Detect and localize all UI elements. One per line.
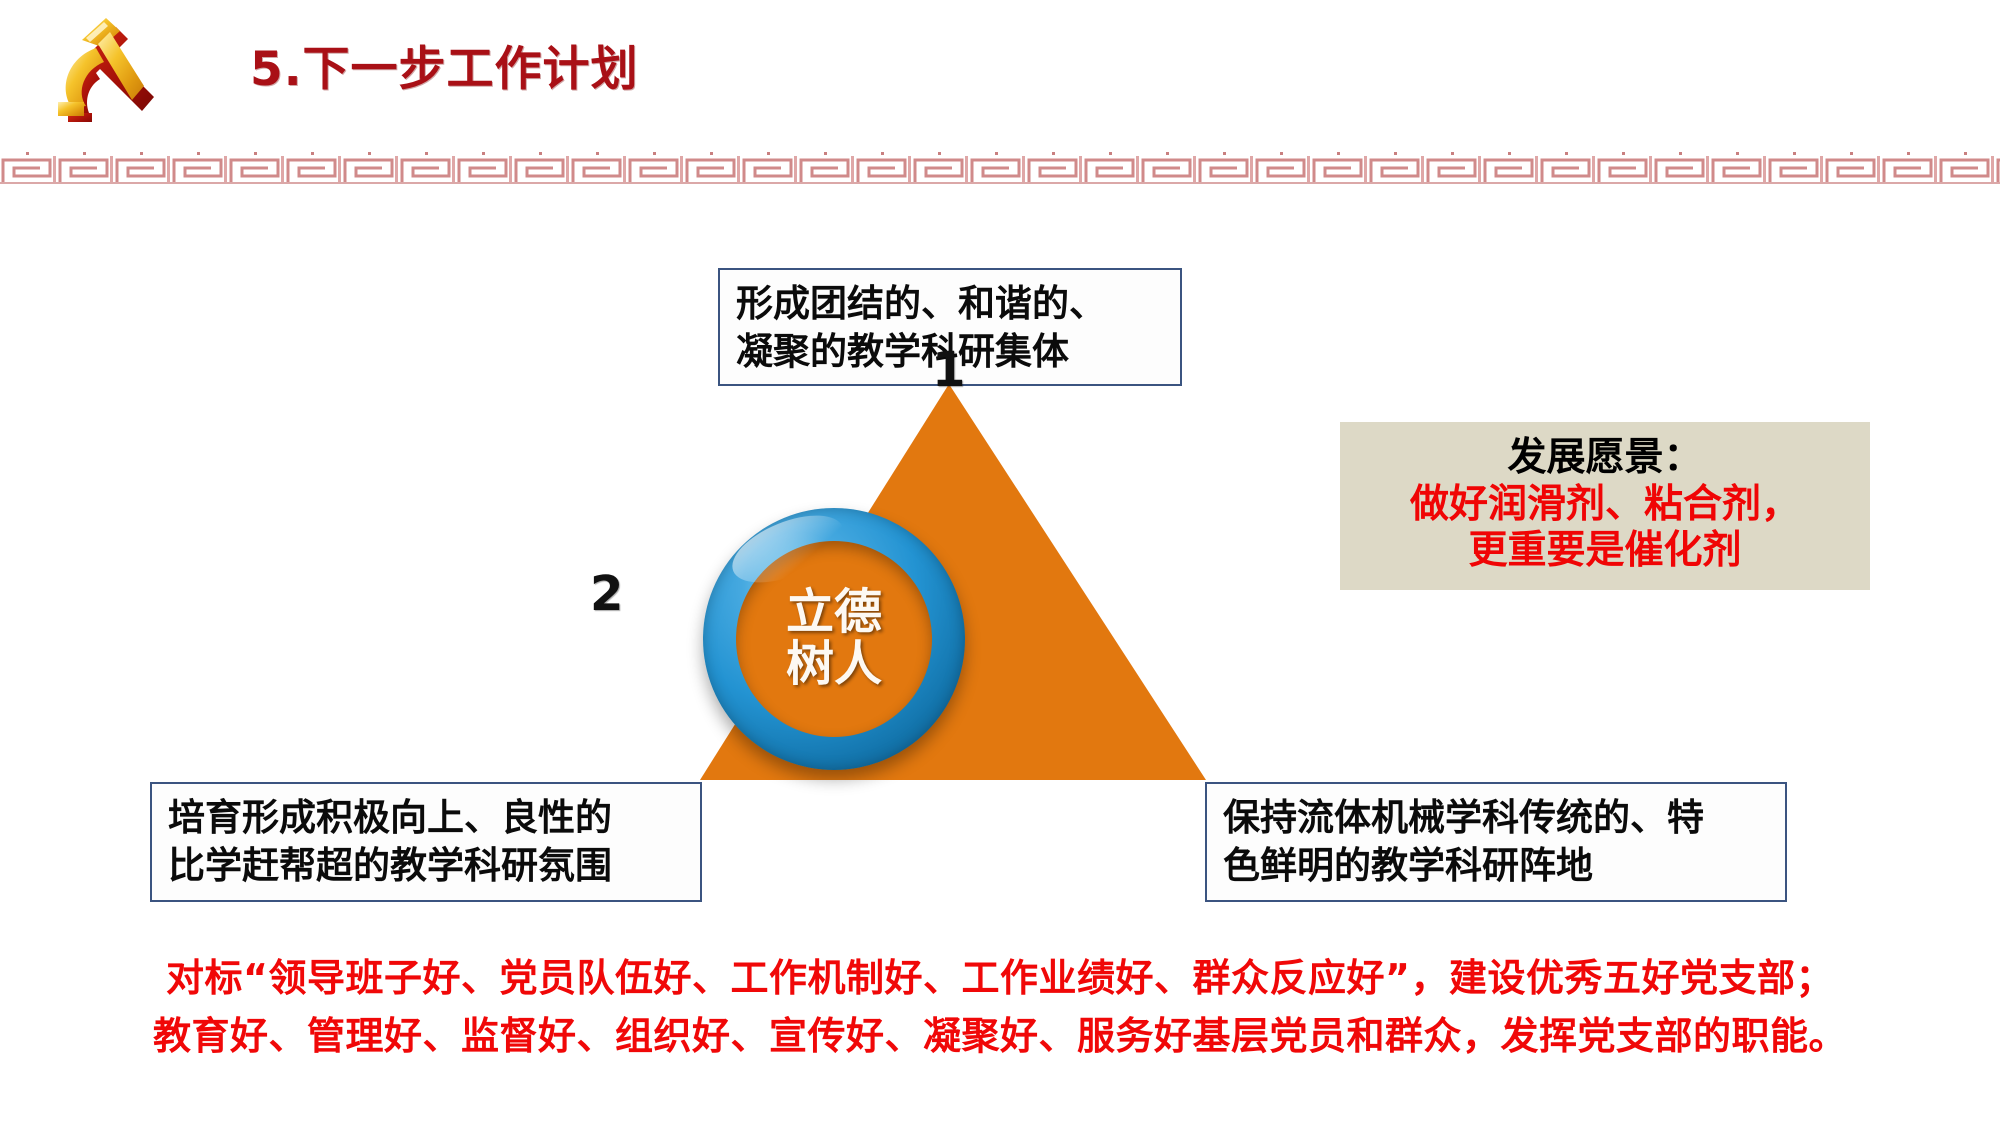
slide-canvas: 5.下一步工作计划 形成团	[0, 0, 2000, 1125]
hammer-and-sickle-icon	[52, 14, 170, 122]
callout-box-2: 培育形成积极向上、良性的 比学赶帮超的教学科研氛围	[150, 782, 702, 902]
footer-statement: 对标“领导班子好、党员队伍好、工作机制好、工作业绩好、群众反应好”，建设优秀五好…	[0, 950, 2000, 1066]
footer-line-1: 对标“领导班子好、党员队伍好、工作机制好、工作业绩好、群众反应好”，建设优秀五好…	[0, 950, 2000, 1008]
callout-2-line-2: 比学赶帮超的教学科研氛围	[168, 842, 686, 890]
callout-1-line-1: 形成团结的、和谐的、	[736, 280, 1166, 328]
center-label-line-2: 树人	[786, 639, 882, 691]
callout-3-line-1: 保持流体机械学科传统的、特	[1223, 794, 1771, 842]
slide-header: 5.下一步工作计划	[0, 0, 2000, 150]
callout-box-3: 保持流体机械学科传统的、特 色鲜明的教学科研阵地	[1205, 782, 1787, 902]
greek-key-border-icon	[0, 148, 2000, 184]
footer-line-2: 教育好、管理好、监督好、组织好、宣传好、凝聚好、服务好基层党员和群众，发挥党支部…	[0, 1008, 2000, 1066]
vision-line-2: 更重要是催化剂	[1340, 528, 1870, 575]
vertex-number-1: 1	[932, 342, 965, 398]
vision-heading: 发展愿景：	[1340, 435, 1870, 482]
vertex-number-2: 2	[590, 566, 623, 622]
page-title: 5.下一步工作计划	[250, 30, 639, 99]
center-ring: 立德 树人	[703, 508, 965, 770]
center-label-line-1: 立德	[786, 587, 882, 639]
vision-box: 发展愿景： 做好润滑剂、粘合剂， 更重要是催化剂	[1340, 422, 1870, 590]
callout-2-line-1: 培育形成积极向上、良性的	[168, 794, 686, 842]
vision-line-1: 做好润滑剂、粘合剂，	[1340, 482, 1870, 529]
callout-3-line-2: 色鲜明的教学科研阵地	[1223, 842, 1771, 890]
center-label: 立德 树人	[703, 508, 965, 770]
